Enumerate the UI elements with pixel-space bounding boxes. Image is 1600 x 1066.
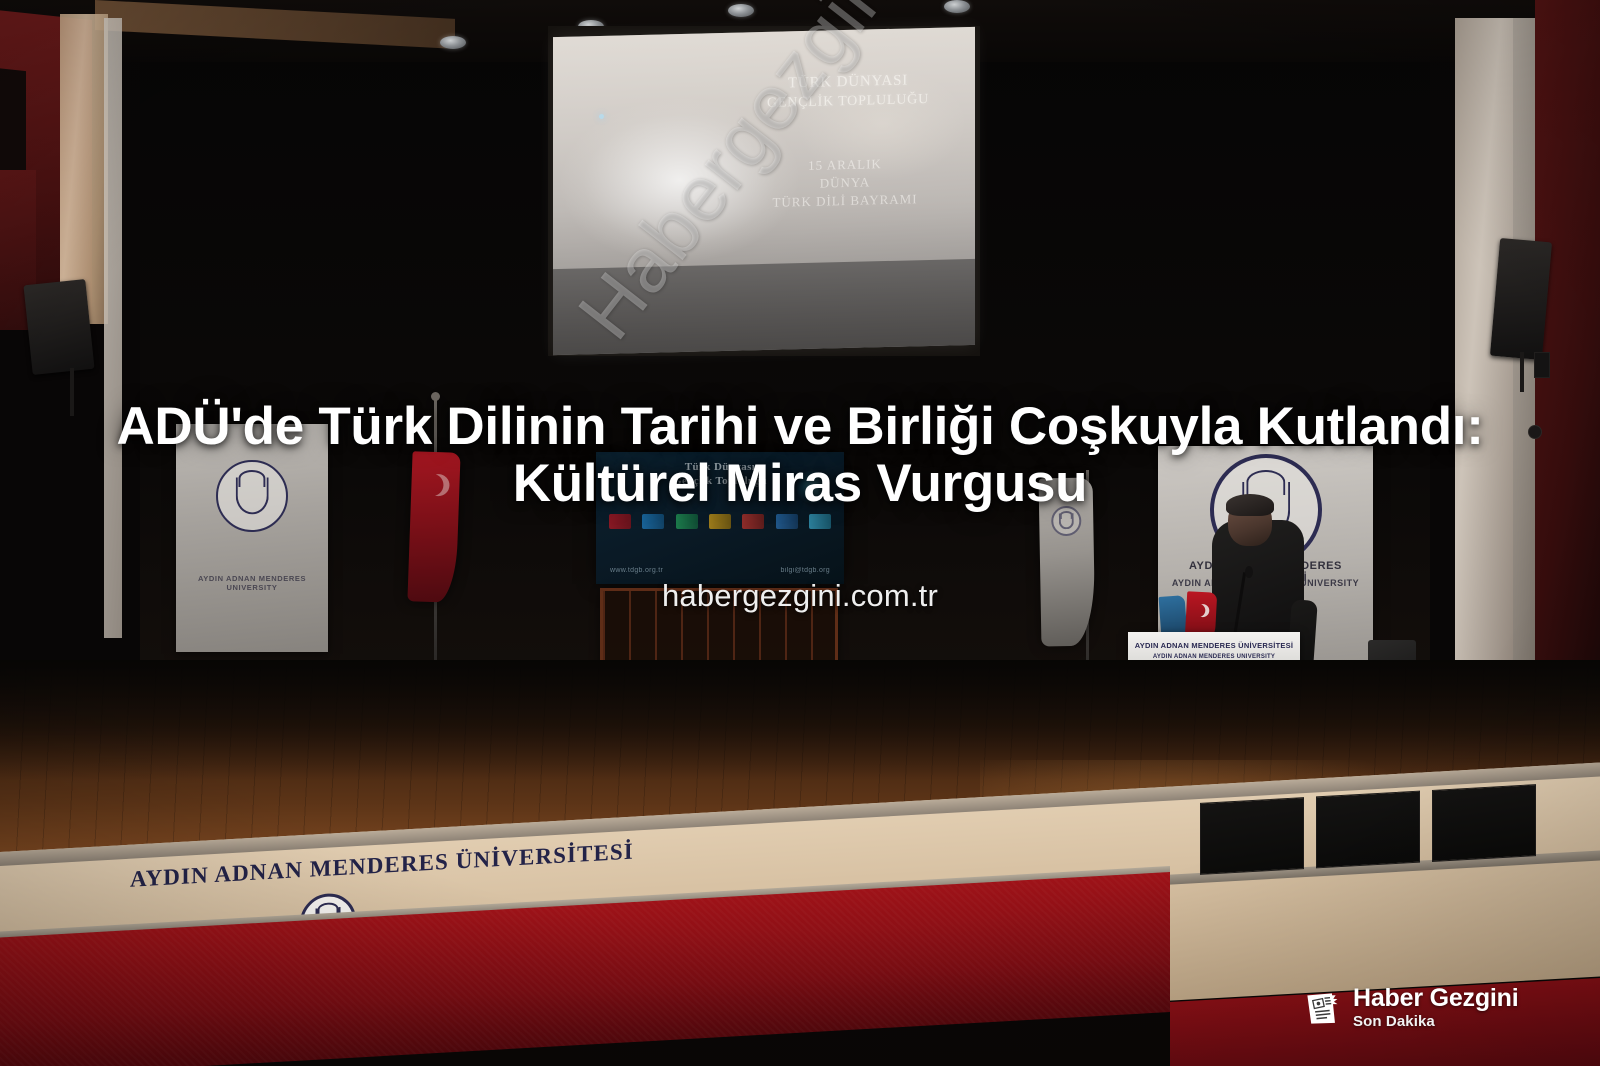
poster-url-left: www.tdgb.org.tr xyxy=(610,567,663,574)
site-url-text: habergezgini.com.tr xyxy=(0,578,1600,614)
site-logo-badge[interactable]: Haber Gezgini Son Dakika xyxy=(1304,986,1519,1029)
ceiling-wood-trim xyxy=(95,0,455,49)
newspaper-icon xyxy=(1304,987,1344,1029)
ceiling-spotlight xyxy=(944,0,970,13)
wall-recess xyxy=(0,68,26,181)
news-hero-image: TÜRK DÜNYASI GENÇLİK TOPLULUĞU 15 ARALIK… xyxy=(0,0,1600,1066)
projection-lower-shadow xyxy=(553,259,975,355)
poster-flag xyxy=(709,514,731,529)
projection-date: 15 ARALIK DÜNYA TÜRK DİLİ BAYRAMI xyxy=(755,154,935,212)
poster-flag xyxy=(676,514,698,529)
ceiling-spotlight xyxy=(440,36,466,49)
podium-text-tr: AYDIN ADNAN MENDERES ÜNİVERSİTESİ xyxy=(1128,641,1300,650)
loudspeaker-mount-right xyxy=(1520,352,1524,392)
loudspeaker-right xyxy=(1490,238,1552,360)
poster-url-right: bilgi@tdgb.org xyxy=(781,567,830,574)
microphone-head xyxy=(1245,566,1253,578)
ceiling-spotlight xyxy=(728,4,754,17)
wall-column-left xyxy=(60,14,108,324)
site-logo-tagline: Son Dakika xyxy=(1353,1014,1519,1029)
poster-flag xyxy=(742,514,764,529)
poster-flag xyxy=(776,514,798,529)
poster-urls: www.tdgb.org.tr bilgi@tdgb.org xyxy=(596,567,844,574)
poster-flag xyxy=(642,514,664,529)
loudspeaker-left xyxy=(23,279,94,375)
site-logo-text: Haber Gezgini Son Dakika xyxy=(1353,986,1519,1029)
poster-flag xyxy=(809,514,831,529)
wall-column-left-trim xyxy=(104,18,122,638)
poster-flag xyxy=(609,514,631,529)
article-headline: ADÜ'de Türk Dilinin Tarihi ve Birliği Co… xyxy=(0,398,1600,512)
photograph: TÜRK DÜNYASI GENÇLİK TOPLULUĞU 15 ARALIK… xyxy=(0,0,1600,1066)
acoustic-panel xyxy=(1200,797,1304,875)
projection-title: TÜRK DÜNYASI GENÇLİK TOPLULUĞU xyxy=(743,69,953,114)
wall-socket-plate xyxy=(1534,352,1550,378)
acoustic-panel xyxy=(1316,791,1420,869)
projection-screen: TÜRK DÜNYASI GENÇLİK TOPLULUĞU 15 ARALIK… xyxy=(553,27,975,355)
site-logo-name: Haber Gezgini xyxy=(1353,986,1519,1011)
acoustic-panel xyxy=(1432,784,1536,862)
